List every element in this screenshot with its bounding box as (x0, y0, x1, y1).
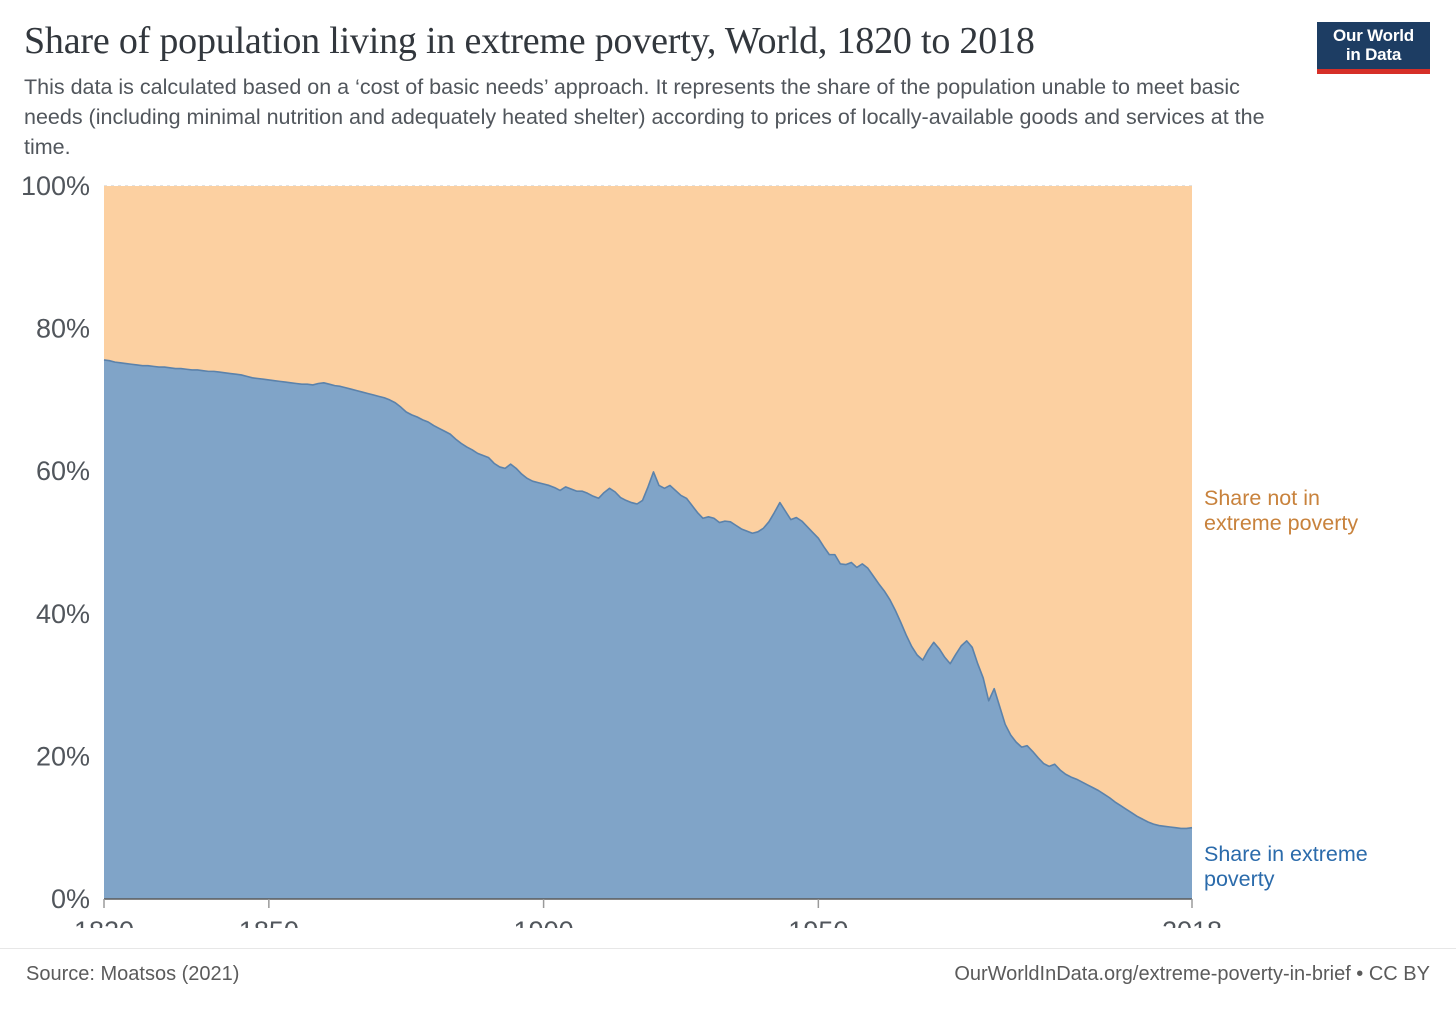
axis-lines (104, 899, 1192, 908)
y-tick-label-80: 80% (36, 314, 90, 344)
y-tick-label-0: 0% (51, 884, 90, 914)
y-tick-label-20: 20% (36, 741, 90, 771)
our-world-in-data-logo[interactable]: Our World in Data (1317, 22, 1430, 74)
logo-line-1: Our World (1333, 26, 1414, 45)
chart-svg[interactable]: 0%20%40%60%80%100% 18201850190019502018 … (0, 168, 1456, 928)
y-axis-tick-labels: 0%20%40%60%80%100% (21, 171, 90, 914)
license-label[interactable]: OurWorldInData.org/extreme-poverty-in-br… (954, 963, 1430, 986)
x-axis-tick-labels: 18201850190019502018 (74, 916, 1222, 928)
x-tick-label-1900: 1900 (514, 916, 574, 928)
series-label-share-in-extreme-poverty-line-2: poverty (1204, 867, 1275, 891)
x-tick-label-2018: 2018 (1162, 916, 1222, 928)
y-tick-label-40: 40% (36, 599, 90, 629)
stacked-area-chart[interactable]: 0%20%40%60%80%100% 18201850190019502018 … (0, 168, 1456, 928)
series-label-share-in-extreme-poverty-line-1: Share in extreme (1204, 842, 1368, 866)
chart-page: Share of population living in extreme po… (0, 0, 1456, 1028)
x-tick-label-1820: 1820 (74, 916, 134, 928)
series-labels: Share not inextreme povertyShare in extr… (1204, 486, 1368, 891)
y-tick-label-100: 100% (21, 171, 90, 201)
chart-header: Share of population living in extreme po… (24, 18, 1294, 162)
y-tick-label-60: 60% (36, 456, 90, 486)
series-label-share-not-in-extreme-poverty-line-1: Share not in (1204, 486, 1320, 510)
source-label: Source: Moatsos (2021) (26, 963, 239, 986)
x-tick-label-1850: 1850 (239, 916, 299, 928)
logo-line-2: in Data (1346, 45, 1401, 64)
area-series-group[interactable] (104, 186, 1192, 899)
chart-subtitle: This data is calculated based on a ‘cost… (24, 72, 1274, 162)
page-title: Share of population living in extreme po… (24, 18, 1294, 64)
chart-footer: Source: Moatsos (2021) OurWorldInData.or… (0, 948, 1456, 1028)
series-label-share-not-in-extreme-poverty-line-2: extreme poverty (1204, 511, 1358, 535)
x-tick-label-1950: 1950 (788, 916, 848, 928)
